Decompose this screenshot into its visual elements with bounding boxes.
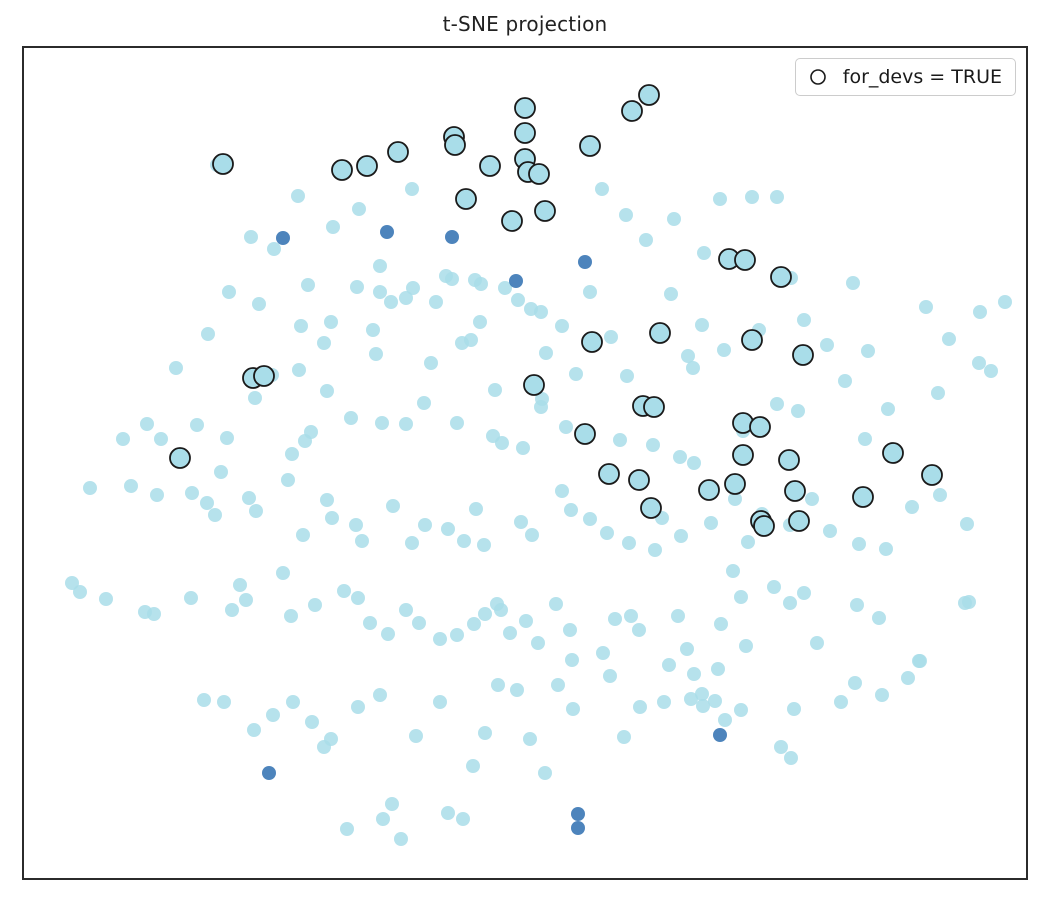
scatter-point [405,536,419,550]
scatter-point [514,515,528,529]
scatter-point [583,512,597,526]
scatter-point [787,702,801,716]
scatter-point [549,597,563,611]
scatter-point [503,626,517,640]
scatter-point [646,438,660,452]
scatter-point [931,386,945,400]
scatter-point [962,595,976,609]
scatter-point [657,695,671,709]
scatter-point [456,812,470,826]
scatter-point [184,591,198,605]
scatter-point [838,374,852,388]
scatter-point [984,364,998,378]
scatter-point [569,367,583,381]
scatter-point [529,164,549,184]
scatter-point [208,508,222,522]
scatter-point [820,338,834,352]
scatter-point [248,391,262,405]
scatter-point [901,671,915,685]
scatter-point [608,612,622,626]
scatter-point [789,511,809,531]
scatter-point [262,766,276,780]
scatter-point [583,285,597,299]
scatter-point [713,728,727,742]
scatter-point [564,503,578,517]
scatter-point [613,433,627,447]
scatter-point [650,323,670,343]
scatter-point [308,598,322,612]
scatter-point [671,609,685,623]
scatter-point [381,627,395,641]
scatter-point [116,432,130,446]
scatter-point [734,590,748,604]
scatter-point [741,535,755,549]
legend-circle-icon [807,66,829,88]
scatter-point [73,585,87,599]
scatter-point [285,447,299,461]
scatter-point [369,347,383,361]
scatter-point [466,759,480,773]
scatter-point [515,98,535,118]
scatter-point [696,699,710,713]
scatter-point [450,628,464,642]
scatter-point [714,617,728,631]
plot-axes: for_devs = TRUE [22,46,1028,880]
scatter-point [441,806,455,820]
scatter-point [539,346,553,360]
scatter-point [771,267,791,287]
scatter-point [464,333,478,347]
scatter-point [797,586,811,600]
scatter-point [684,692,698,706]
scatter-point [767,580,781,594]
scatter-point [267,242,281,256]
scatter-point [355,534,369,548]
scatter-point [619,208,633,222]
scatter-point [534,305,548,319]
scatter-point [154,432,168,446]
scatter-point [433,695,447,709]
scatter-point [385,797,399,811]
scatter-point [286,695,300,709]
scatter-point [861,344,875,358]
scatter-point [699,480,719,500]
scatter-point [624,609,638,623]
scatter-point [620,369,634,383]
scatter-point [450,416,464,430]
scatter-point [852,537,866,551]
scatter-point [933,488,947,502]
scatter-point [326,220,340,234]
scatter-point [349,518,363,532]
scatter-point [603,669,617,683]
scatter-point [375,416,389,430]
scatter-point [350,280,364,294]
scatter-point [150,488,164,502]
scatter-point [629,470,649,490]
scatter-point [534,400,548,414]
scatter-point [571,821,585,835]
scatter-point [960,517,974,531]
scatter-point [551,678,565,692]
scatter-point [491,678,505,692]
scatter-point [848,676,862,690]
scatter-point [770,190,784,204]
scatter-point [524,375,544,395]
scatter-point [185,486,199,500]
scatter-point [596,646,610,660]
scatter-point [494,603,508,617]
scatter-point [340,822,354,836]
scatter-point [922,465,942,485]
scatter-point [357,156,377,176]
scatter-point [473,315,487,329]
scatter-point [325,511,339,525]
scatter-point [622,101,642,121]
scatter-point [252,297,266,311]
scatter-point [281,473,295,487]
scatter-point [664,287,678,301]
scatter-point [713,192,727,206]
scatter-point [190,418,204,432]
scatter-point [201,327,215,341]
scatter-point [477,538,491,552]
scatter-point [249,504,263,518]
scatter-point [750,417,770,437]
scatter-point [386,499,400,513]
scatter-point [648,543,662,557]
scatter-point [433,632,447,646]
scatter-point [242,491,256,505]
scatter-point [445,230,459,244]
scatter-point [667,212,681,226]
scatter-point [495,436,509,450]
scatter-point [725,474,745,494]
scatter-point [735,250,755,270]
scatter-point [784,751,798,765]
scatter-point [417,396,431,410]
scatter-point [905,500,919,514]
scatter-series-2 [170,85,942,536]
scatter-point [919,300,933,314]
scatter-point [478,607,492,621]
scatter-point [169,361,183,375]
scatter-point [200,496,214,510]
scatter-points-layer [24,48,1026,878]
scatter-point [718,713,732,727]
scatter-point [632,623,646,637]
scatter-point [639,85,659,105]
scatter-point [912,654,926,668]
scatter-point [823,524,837,538]
scatter-point [998,295,1012,309]
scatter-point [140,417,154,431]
scatter-point [445,135,465,155]
scatter-point [424,356,438,370]
scatter-point [124,479,138,493]
scatter-point [222,285,236,299]
scatter-point [580,136,600,156]
scatter-point [147,607,161,621]
scatter-point [429,295,443,309]
scatter-point [785,481,805,501]
scatter-point [805,492,819,506]
scatter-point [320,493,334,507]
scatter-point [399,417,413,431]
scatter-point [973,305,987,319]
scatter-point [467,617,481,631]
scatter-point [510,683,524,697]
scatter-point [770,397,784,411]
scatter-point [686,361,700,375]
scatter-point [276,566,290,580]
scatter-point [942,332,956,346]
scatter-point [872,611,886,625]
scatter-point [478,726,492,740]
scatter-point [565,653,579,667]
scatter-point [834,695,848,709]
scatter-point [197,693,211,707]
scatter-point [445,272,459,286]
scatter-point [704,516,718,530]
scatter-point [214,465,228,479]
scatter-point [582,332,602,352]
scatter-point [779,450,799,470]
scatter-point [745,190,759,204]
scatter-point [673,450,687,464]
scatter-point [244,230,258,244]
scatter-point [680,642,694,656]
scatter-point [519,614,533,628]
scatter-point [566,702,580,716]
scatter-point [571,807,585,821]
scatter-point [363,616,377,630]
scatter-point [380,225,394,239]
scatter-point [352,202,366,216]
scatter-point [344,411,358,425]
legend-label-for-devs: for_devs = TRUE [843,66,1002,88]
scatter-point [239,593,253,607]
scatter-point [373,688,387,702]
scatter-point [791,404,805,418]
scatter-point [284,609,298,623]
scatter-point [332,160,352,180]
scatter-point [292,363,306,377]
scatter-point [733,445,753,465]
scatter-point [170,448,190,468]
scatter-point [774,740,788,754]
scatter-point [662,658,676,672]
scatter-point [853,487,873,507]
scatter-point [317,336,331,350]
scatter-point [296,528,310,542]
scatter-point [575,424,595,444]
scatter-point [399,603,413,617]
scatter-point [441,522,455,536]
scatter-point [291,189,305,203]
scatter-point [213,154,233,174]
scatter-point [793,345,813,365]
scatter-point [523,732,537,746]
scatter-point [516,441,530,455]
scatter-point [225,603,239,617]
scatter-point [301,278,315,292]
scatter-point [641,498,661,518]
figure-canvas: t-SNE projection for_devs = TRUE [0,0,1050,900]
scatter-point [846,276,860,290]
scatter-point [233,578,247,592]
scatter-point [559,420,573,434]
scatter-point [515,123,535,143]
scatter-point [384,295,398,309]
scatter-point [511,293,525,307]
scatter-point [972,356,986,370]
scatter-point [717,343,731,357]
scatter-point [266,708,280,722]
scatter-point [373,285,387,299]
scatter-point [324,315,338,329]
scatter-point [83,481,97,495]
scatter-point [412,616,426,630]
scatter-point [674,529,688,543]
scatter-point [555,484,569,498]
scatter-point [633,700,647,714]
scatter-point [742,330,762,350]
scatter-point [305,715,319,729]
scatter-point [535,201,555,221]
scatter-point [739,639,753,653]
scatter-point [639,233,653,247]
scatter-point [600,526,614,540]
scatter-point [276,231,290,245]
scatter-point [754,516,774,536]
scatter-point [99,592,113,606]
page-title: t-SNE projection [0,12,1050,36]
scatter-point [488,383,502,397]
scatter-point [525,528,539,542]
scatter-point [220,431,234,445]
scatter-point [366,323,380,337]
scatter-point [247,723,261,737]
scatter-point [708,694,722,708]
scatter-point [687,667,701,681]
scatter-point [883,443,903,463]
scatter-point [469,502,483,516]
scatter-point [595,182,609,196]
scatter-point [850,598,864,612]
scatter-point [858,432,872,446]
scatter-point [563,623,577,637]
scatter-point [405,182,419,196]
scatter-point [294,319,308,333]
scatter-point [881,402,895,416]
scatter-point [351,591,365,605]
scatter-point [337,584,351,598]
scatter-point [480,156,500,176]
scatter-point [875,688,889,702]
scatter-point [622,536,636,550]
scatter-point [418,518,432,532]
scatter-point [697,246,711,260]
scatter-point [555,319,569,333]
scatter-point [726,564,740,578]
scatter-point [376,812,390,826]
scatter-point [810,636,824,650]
scatter-point [320,384,334,398]
scatter-point [456,189,476,209]
scatter-point [351,700,365,714]
scatter-point [687,456,701,470]
scatter-point [457,534,471,548]
scatter-point [217,695,231,709]
scatter-point [617,730,631,744]
scatter-point [324,732,338,746]
scatter-point [388,142,408,162]
scatter-point [797,313,811,327]
scatter-point [509,274,523,288]
legend-box[interactable]: for_devs = TRUE [795,58,1016,96]
scatter-point [531,636,545,650]
scatter-point [783,596,797,610]
scatter-point [399,291,413,305]
scatter-point [304,425,318,439]
scatter-point [254,366,274,386]
scatter-point [879,542,893,556]
scatter-point [681,349,695,363]
scatter-point [599,464,619,484]
scatter-point [538,766,552,780]
scatter-svg [24,48,1026,878]
scatter-point [734,703,748,717]
scatter-point [474,277,488,291]
scatter-point [711,662,725,676]
scatter-point [578,255,592,269]
scatter-point [373,259,387,273]
scatter-point [409,729,423,743]
scatter-point [644,397,664,417]
scatter-point [502,211,522,231]
scatter-point [695,318,709,332]
scatter-point [604,330,618,344]
scatter-point [394,832,408,846]
